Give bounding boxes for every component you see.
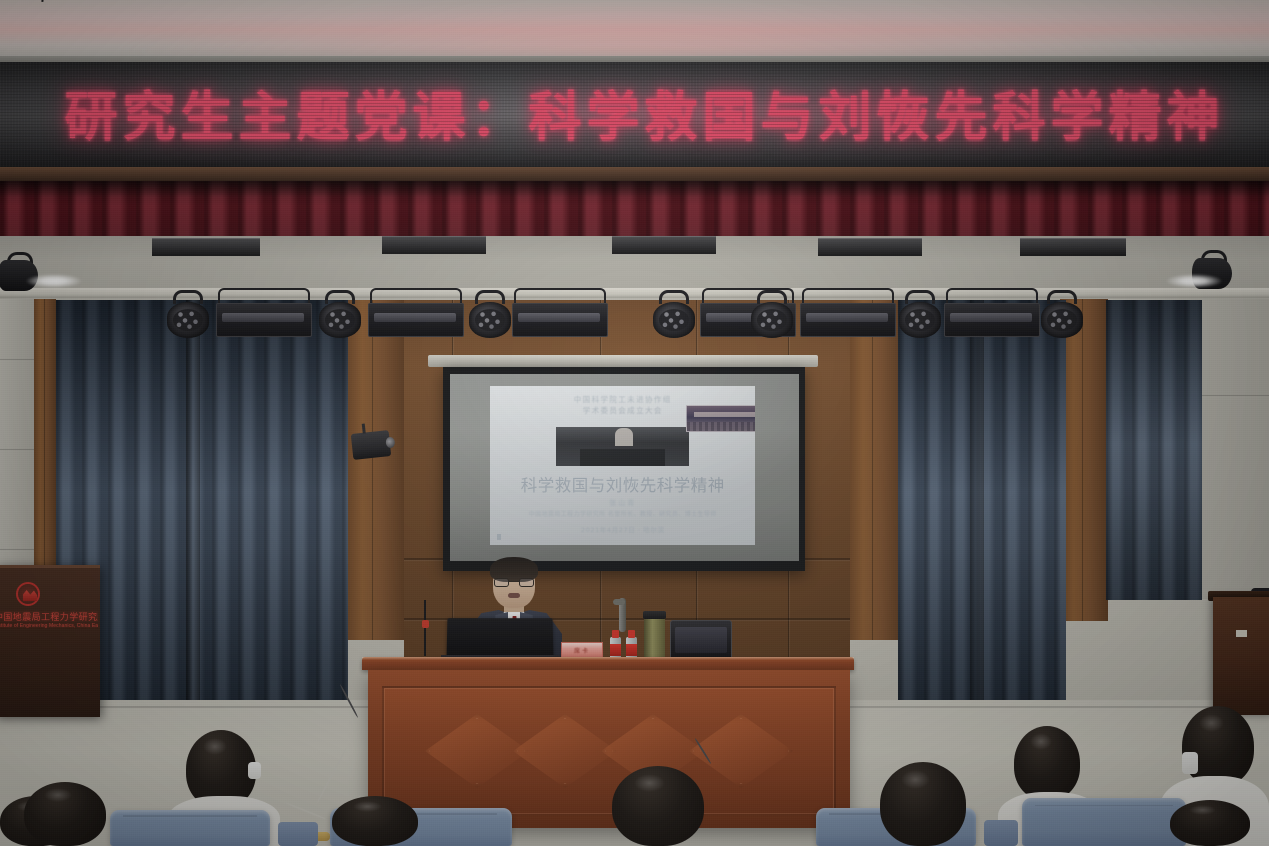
- slide-photo-figure: [615, 428, 634, 446]
- table-diamond-pattern: [386, 690, 832, 812]
- slide-affiliation: 中国地震局工程力学研究所 名誉所长、教授、研究员、博士生导师: [490, 509, 755, 518]
- panel-hanger-icon: [370, 288, 462, 304]
- led-scanlines: [0, 62, 1269, 167]
- head-table-front-panel: [368, 670, 850, 828]
- ceiling-led-glow: [120, 4, 1160, 56]
- audience-head: [880, 762, 966, 846]
- equipment-tray: [670, 620, 732, 662]
- desk-microphone: [424, 600, 426, 656]
- wood-pilaster-center-right: [848, 300, 902, 640]
- lamp-led-array: [173, 309, 203, 331]
- lamp-flare: [26, 274, 82, 288]
- slide-date: 2021年4月27日 · 哈尔滨: [490, 524, 755, 534]
- ceiling-projector: [351, 430, 392, 460]
- ceiling-speaker: [612, 236, 716, 254]
- auditorium-photo: 研究生主题党课：科学救国与刘恢先科学精神 研究生主题党课：科学救国与刘恢先科学精…: [0, 0, 1269, 846]
- lamp-led-array: [475, 309, 505, 331]
- led-panel-light-2: [368, 288, 464, 340]
- ceiling-speaker: [382, 236, 486, 254]
- laptop-computer: [441, 618, 559, 662]
- led-panel-light-1: [216, 288, 312, 340]
- panel-hanger-icon: [946, 288, 1038, 304]
- institute-emblem-icon: [16, 582, 40, 606]
- panel-lens: [374, 313, 456, 322]
- corner-spotlight-right: [1192, 250, 1238, 296]
- lectern-podium: 中国地震局工程力学研究所 Institute of Engineering Me…: [0, 565, 100, 717]
- lamp-led-array: [1047, 309, 1077, 331]
- tea-thermos: [644, 617, 665, 662]
- led-panel-light-5: [800, 288, 896, 340]
- ceiling-speaker: [818, 238, 922, 256]
- par-can-light-2: [318, 290, 362, 338]
- auditorium-seat[interactable]: [1022, 798, 1186, 846]
- projection-screen: 中国科学院工未进协作组 学术委员会成立大会 科学救国与刘恢先科学精神 张山青 中…: [443, 367, 805, 571]
- stage-curtain-far-right: [1106, 300, 1202, 600]
- par-can-light-5: [750, 290, 794, 338]
- lamp-flare: [1166, 274, 1222, 288]
- door-handle-icon[interactable]: [619, 598, 626, 632]
- projection-screen-rail: [428, 355, 818, 367]
- par-can-light-3: [468, 290, 512, 338]
- slide-title: 科学救国与刘恢先科学精神: [490, 472, 755, 496]
- wood-pilaster-right: [1060, 299, 1108, 621]
- side-desk: [1213, 597, 1269, 715]
- panel-hanger-icon: [802, 288, 894, 304]
- curtain-sheen: [1106, 300, 1202, 600]
- slide-photo-desk: [580, 449, 665, 466]
- square-bullet-icon: [497, 534, 501, 540]
- audience-head: [332, 796, 418, 846]
- audience-head: [1182, 706, 1254, 786]
- audience-head: [24, 782, 106, 846]
- thermos-lid: [643, 611, 666, 619]
- panel-lens: [222, 313, 304, 322]
- audience-head: [612, 766, 704, 846]
- par-can-light-4: [652, 290, 696, 338]
- eyeglasses-icon: [494, 578, 534, 587]
- slide-photo: [556, 427, 689, 465]
- slide-header-line1: 中国科学院工未进协作组: [490, 394, 755, 405]
- ceiling-speaker: [152, 238, 260, 256]
- presenter-mouth: [508, 593, 520, 598]
- red-nameplate: 席卡: [561, 642, 603, 658]
- laptop-screen: [447, 618, 554, 657]
- corner-spotlight-left: [0, 252, 44, 298]
- led-banner-display: 研究生主题党课：科学救国与刘恢先科学精神 研究生主题党课：科学救国与刘恢先科学精…: [0, 62, 1269, 167]
- panel-lens: [518, 313, 600, 322]
- valance-top-shadow: [0, 181, 1269, 197]
- screen-surface: 中国科学院工未进协作组 学术委员会成立大会 科学救国与刘恢先科学精神 张山青 中…: [450, 374, 799, 561]
- lamp-led-array: [757, 309, 787, 331]
- stage-curtain-right: [898, 300, 1066, 700]
- auditorium-seat[interactable]: [110, 810, 270, 846]
- lamp-led-array: [905, 309, 935, 331]
- seat-armrest: [984, 820, 1018, 846]
- led-panel-light-3: [512, 288, 608, 340]
- head-table-top-highlight: [362, 657, 854, 660]
- inset-seats: [687, 422, 755, 432]
- curtain-sheen: [898, 300, 1066, 700]
- led-panel-light-6: [944, 288, 1040, 340]
- panel-hanger-icon: [218, 288, 310, 304]
- panel-lens: [806, 313, 888, 322]
- banner-wood-trim: [0, 167, 1269, 181]
- wood-pilaster-center-left: [346, 300, 404, 640]
- panel-lens: [950, 313, 1032, 322]
- audience-head: [1014, 726, 1080, 800]
- podium-english-name: Institute of Engineering Mechanics, Chin…: [0, 623, 98, 629]
- slide-author: 张山青: [490, 498, 755, 508]
- ceiling-speaker: [1020, 238, 1126, 256]
- podium-chinese-name: 中国地震局工程力学研究所: [0, 610, 98, 623]
- face-mask-icon: [1182, 752, 1198, 774]
- side-desk-paper: [1236, 630, 1247, 637]
- seat-armrest: [278, 822, 318, 846]
- nameplate-text: 席卡: [562, 646, 602, 655]
- face-mask-icon: [248, 762, 261, 779]
- par-can-light-6: [898, 290, 942, 338]
- lamp-led-array: [325, 309, 355, 331]
- par-can-light-7: [1040, 290, 1084, 338]
- slide-photo-inset: [686, 405, 755, 432]
- panel-hanger-icon: [514, 288, 606, 304]
- lamp-led-array: [659, 309, 689, 331]
- presentation-slide: 中国科学院工未进协作组 学术委员会成立大会 科学救国与刘恢先科学精神 张山青 中…: [490, 386, 755, 545]
- par-can-light-1: [166, 290, 210, 338]
- audience-head: [1170, 800, 1250, 846]
- tray-ridge: [675, 627, 727, 653]
- ceiling: [0, 0, 1269, 62]
- inset-stage-band: [694, 412, 756, 418]
